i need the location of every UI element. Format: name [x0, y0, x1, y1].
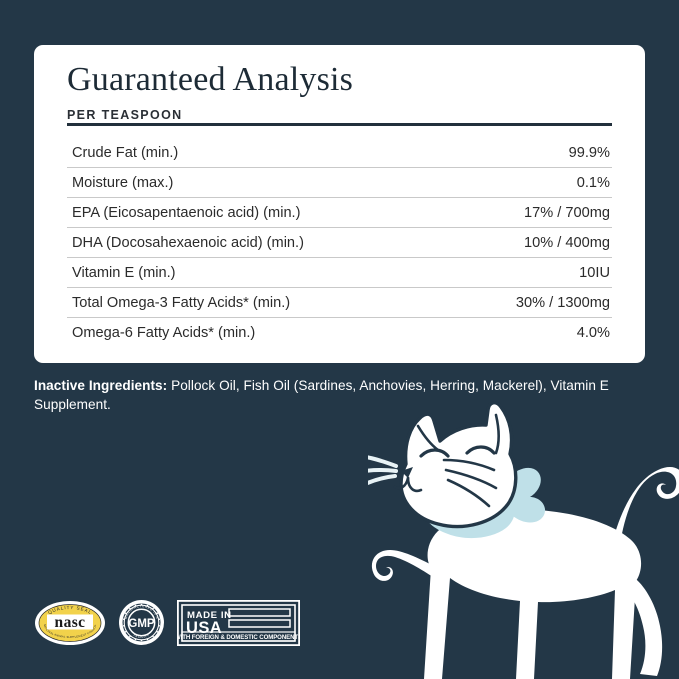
guaranteed-analysis-table: Crude Fat (min.) 99.9% Moisture (max.) 0… — [67, 138, 612, 347]
svg-text:nasc: nasc — [55, 614, 86, 631]
nutrient-name: EPA (Eicosapentaenoic acid) (min.) — [67, 198, 455, 228]
nutrient-name: DHA (Docosahexaenoic acid) (min.) — [67, 228, 455, 258]
svg-text:WITH FOREIGN & DOMESTIC COMPON: WITH FOREIGN & DOMESTIC COMPONENTS — [177, 633, 300, 640]
made-in-usa-icon: MADE IN USA WITH FOREIGN & DOMESTIC COMP… — [177, 600, 300, 646]
table-row: Total Omega-3 Fatty Acids* (min.) 30% / … — [67, 288, 612, 318]
nutrient-value: 0.1% — [455, 168, 612, 198]
nutrient-value: 4.0% — [455, 318, 612, 348]
certification-badges: QUALITY SEAL NATIONAL ANIMAL SUPPLEMENT … — [34, 599, 300, 646]
svg-text:GMP: GMP — [128, 618, 155, 630]
nutrient-value: 10% / 400mg — [455, 228, 612, 258]
gmp-seal-icon: MANUFACTURED IN A FACILITY GMP — [118, 599, 165, 646]
nutrient-name: Crude Fat (min.) — [67, 138, 455, 168]
cat-illustration — [368, 398, 679, 679]
table-row: Moisture (max.) 0.1% — [67, 168, 612, 198]
serving-size-label: PER TEASPOON — [67, 108, 612, 122]
table-row: EPA (Eicosapentaenoic acid) (min.) 17% /… — [67, 198, 612, 228]
table-row: Vitamin E (min.) 10IU — [67, 258, 612, 288]
table-row: DHA (Docosahexaenoic acid) (min.) 10% / … — [67, 228, 612, 258]
table-row: Omega-6 Fatty Acids* (min.) 4.0% — [67, 318, 612, 348]
product-label-panel: Guaranteed Analysis PER TEASPOON Crude F… — [0, 0, 679, 679]
nutrient-value: 17% / 700mg — [455, 198, 612, 228]
table-row: Crude Fat (min.) 99.9% — [67, 138, 612, 168]
nutrient-name: Moisture (max.) — [67, 168, 455, 198]
nutrient-value: 99.9% — [455, 138, 612, 168]
table-header-rule — [67, 123, 612, 126]
nasc-seal-icon: QUALITY SEAL NATIONAL ANIMAL SUPPLEMENT … — [34, 600, 106, 646]
nutrient-name: Total Omega-3 Fatty Acids* (min.) — [67, 288, 455, 318]
inactive-ingredients: Inactive Ingredients: Pollock Oil, Fish … — [34, 376, 634, 414]
nutrient-name: Omega-6 Fatty Acids* (min.) — [67, 318, 455, 348]
page-title: Guaranteed Analysis — [67, 58, 612, 102]
nutrient-name: Vitamin E (min.) — [67, 258, 455, 288]
guaranteed-analysis-card: Guaranteed Analysis PER TEASPOON Crude F… — [34, 45, 645, 363]
nutrient-value: 10IU — [455, 258, 612, 288]
nutrient-value: 30% / 1300mg — [455, 288, 612, 318]
inactive-ingredients-label: Inactive Ingredients: — [34, 378, 167, 393]
